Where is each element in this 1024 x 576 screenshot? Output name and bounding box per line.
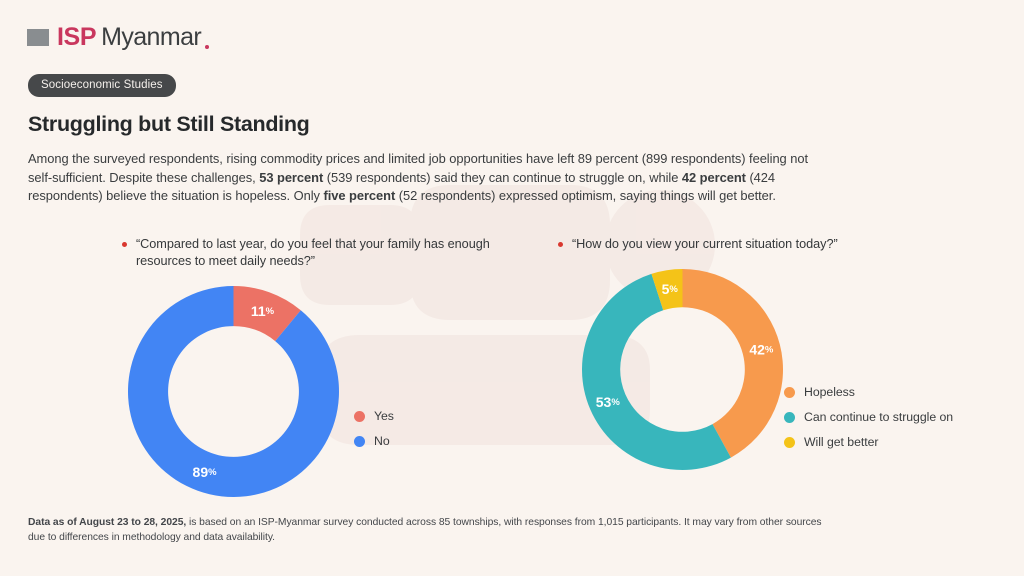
chart-panel-family-resources: “Compared to last year, do you feel that… [122,236,542,499]
legend-family-resources: YesNo [354,409,394,459]
legend-item[interactable]: Will get better [784,435,953,449]
donut-chart-family-resources: 11%89% [126,284,341,499]
logo-dot [205,45,209,49]
legend-item[interactable]: Yes [354,409,394,423]
bullet-dot-icon [122,242,127,247]
legend-item[interactable]: No [354,434,394,448]
donut-slice-0 [683,269,784,458]
legend-swatch-icon [354,411,365,422]
chart-question-left: “Compared to last year, do you feel that… [122,236,542,270]
legend-item-label: Yes [374,409,394,423]
chart-question-left-text: “Compared to last year, do you feel that… [136,236,542,270]
summary-paragraph: Among the surveyed respondents, rising c… [28,150,818,206]
logo-text-myanmar: Myanmar [101,25,201,50]
category-badge: Socioeconomic Studies [28,74,176,97]
logo-square-mark [27,29,49,46]
logo-text-isp: ISP [57,25,96,50]
legend-item-label: Will get better [804,435,878,449]
chart-row-left: 11%89% YesNo [122,284,542,499]
footer-note: Data as of August 23 to 28, 2025, is bas… [28,516,828,545]
legend-current-situation: HopelessCan continue to struggle onWill … [784,385,953,460]
chart-question-right-text: “How do you view your current situation … [572,236,838,253]
legend-item-label: Can continue to struggle on [804,410,953,424]
legend-swatch-icon [784,387,795,398]
chart-panel-current-situation: “How do you view your current situation … [558,236,998,482]
donut-slice-1 [128,286,339,497]
page-title: Struggling but Still Standing [28,112,310,137]
brand-logo: ISP Myanmar [27,22,209,52]
legend-item-label: Hopeless [804,385,855,399]
donut-chart-current-situation: 42%53%5% [580,267,785,472]
legend-swatch-icon [784,437,795,448]
legend-swatch-icon [354,436,365,447]
legend-item-label: No [374,434,390,448]
chart-row-right: 42%53%5% HopelessCan continue to struggl… [558,267,998,482]
legend-swatch-icon [784,412,795,423]
legend-item[interactable]: Hopeless [784,385,953,399]
chart-question-right: “How do you view your current situation … [558,236,998,253]
bullet-dot-icon [558,242,563,247]
legend-item[interactable]: Can continue to struggle on [784,410,953,424]
